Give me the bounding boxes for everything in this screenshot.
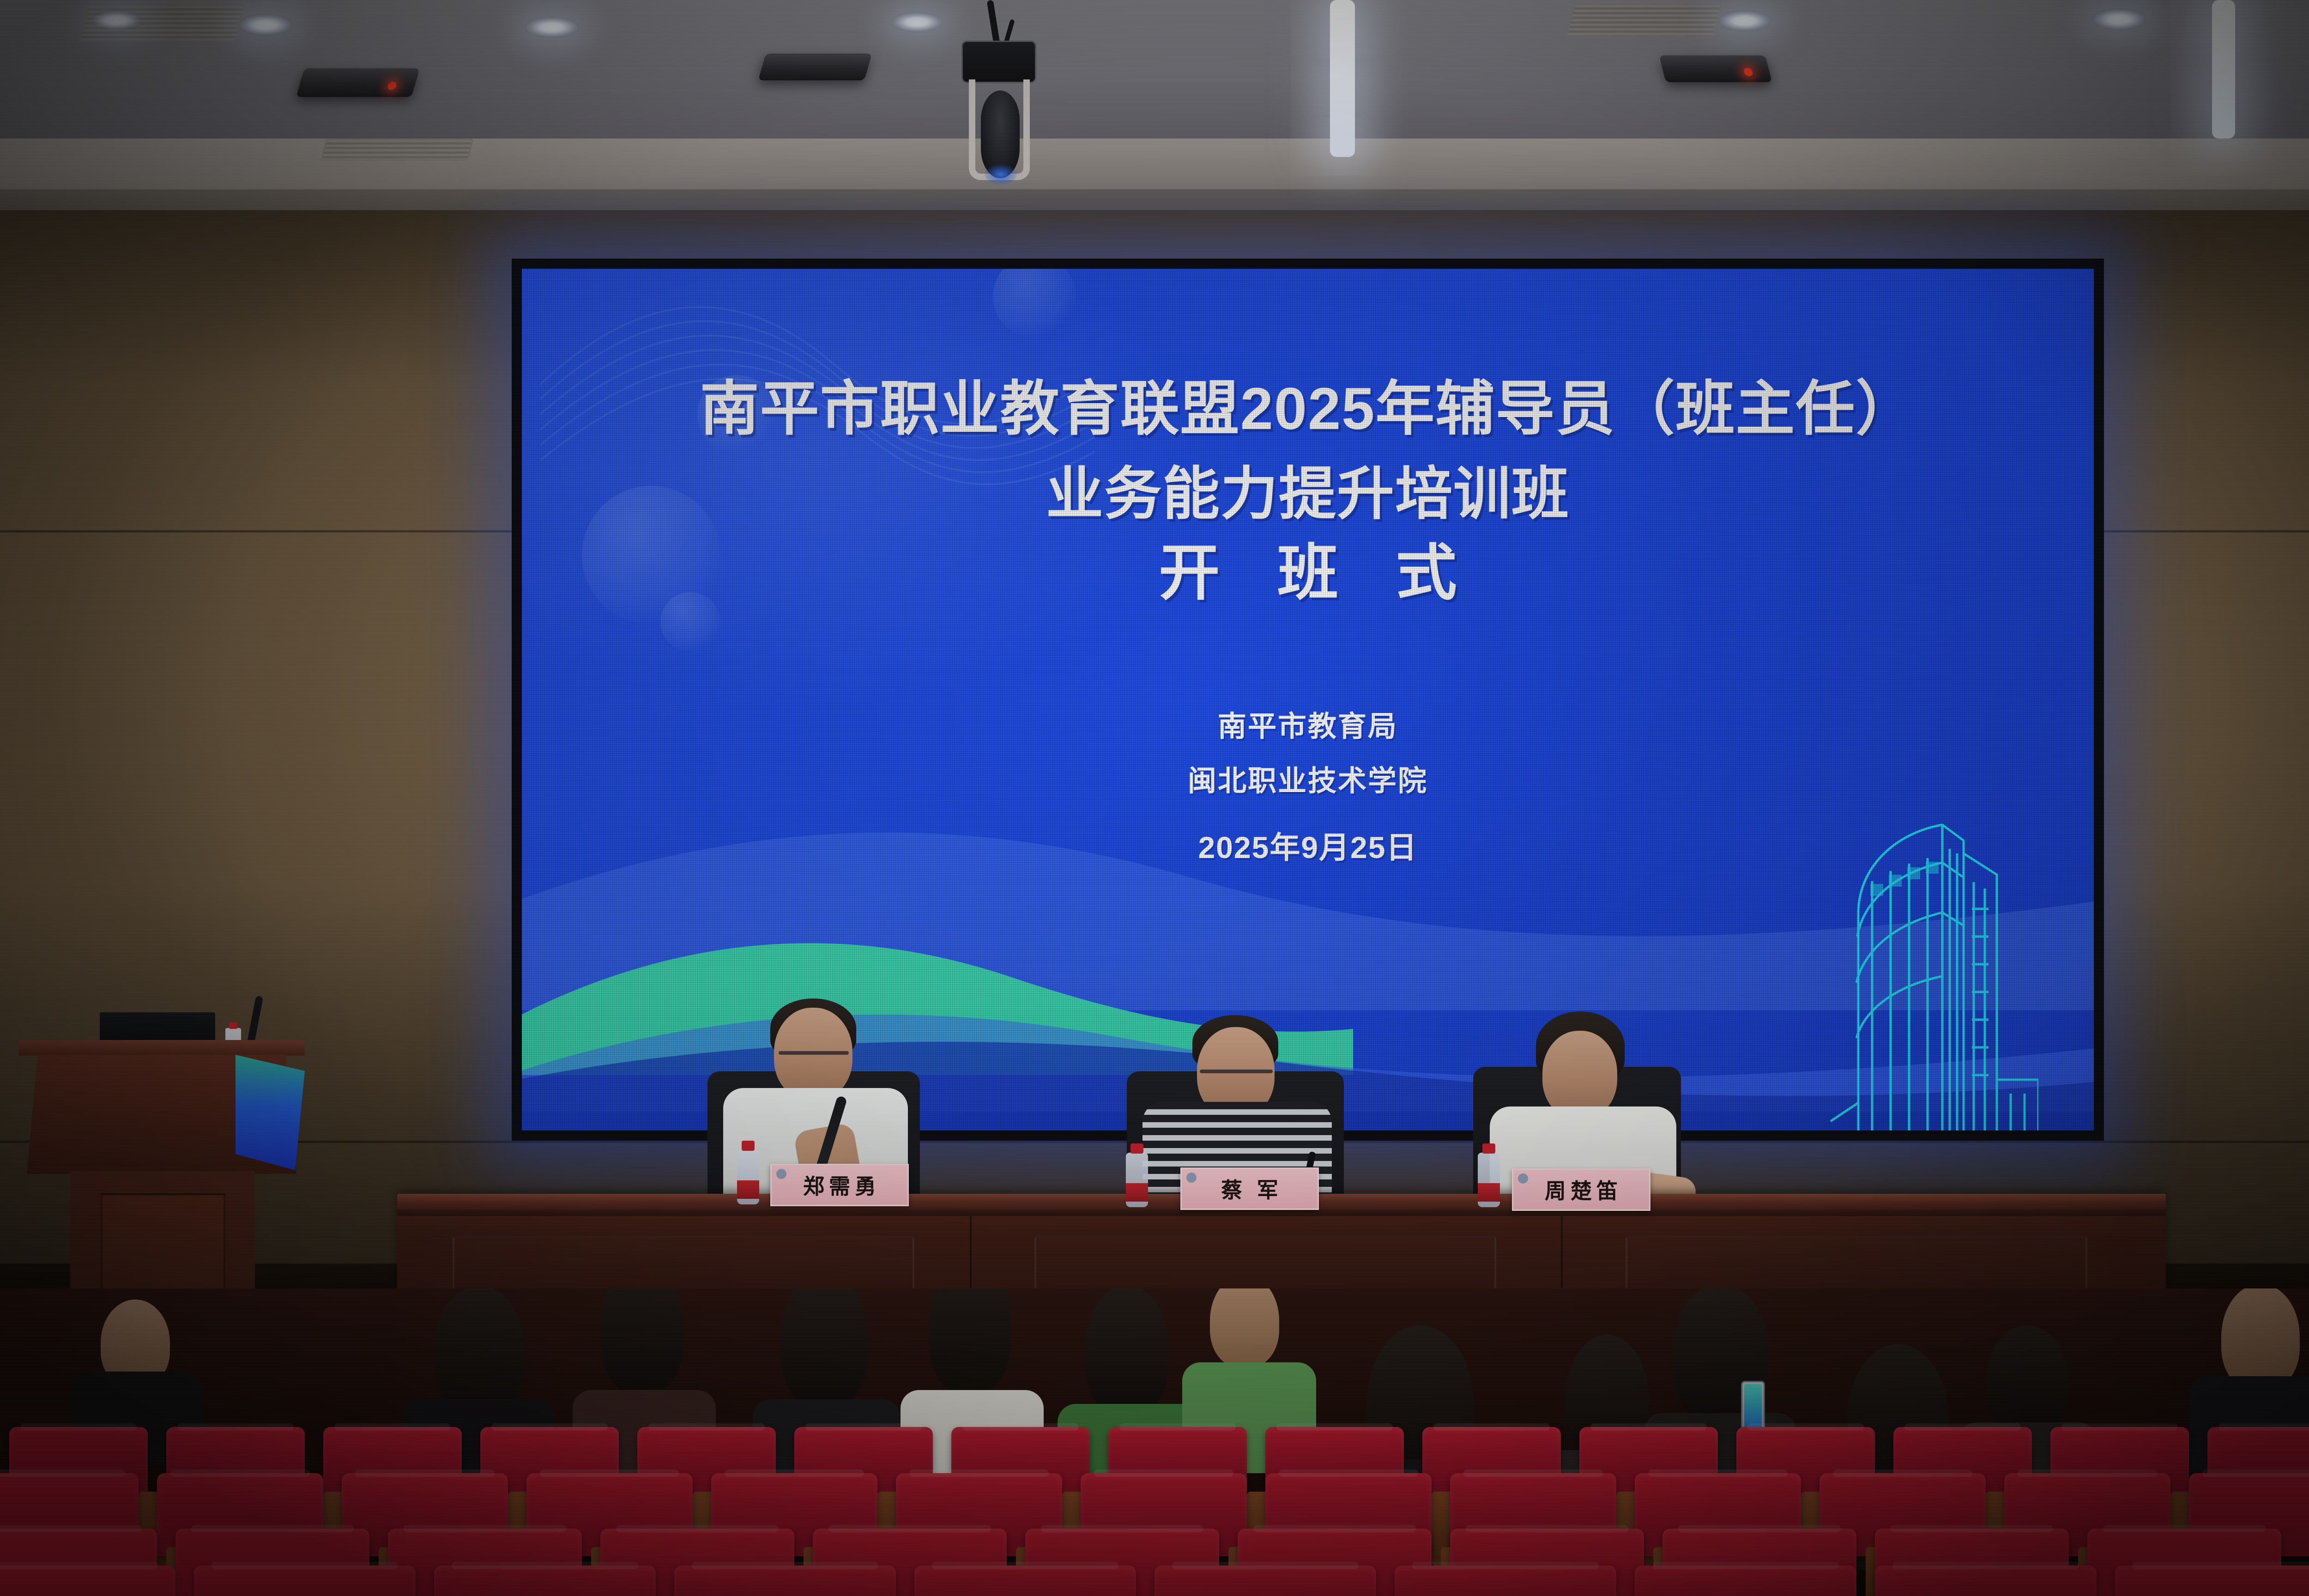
audience-chair[interactable] bbox=[0, 1566, 175, 1596]
audience-head bbox=[1085, 1288, 1168, 1418]
table-top-shadow bbox=[397, 1209, 2166, 1216]
nameplate-3: 周楚笛 bbox=[1512, 1168, 1650, 1211]
spotlight-indicator-led bbox=[387, 82, 398, 90]
nameplate-seal-icon bbox=[1518, 1173, 1528, 1184]
water-bottle bbox=[1478, 1153, 1500, 1207]
head bbox=[1542, 1031, 1617, 1118]
ceiling-spotlight bbox=[758, 54, 872, 80]
ceiling-air-vent bbox=[320, 139, 474, 161]
bottle-label bbox=[1478, 1183, 1500, 1202]
screen-date: 2025年9月25日 bbox=[522, 823, 2094, 867]
ceiling-air-vent bbox=[1566, 4, 1722, 37]
screen-organizer-line2: 闽北职业技术学院 bbox=[522, 757, 2094, 799]
ceiling-downlight bbox=[2092, 8, 2146, 30]
nameplate-seal-icon bbox=[776, 1169, 786, 1179]
screen-organizer-line1: 南平市教育局 bbox=[522, 703, 2094, 744]
audience-chair[interactable] bbox=[1395, 1566, 1616, 1596]
bottle-cap bbox=[1482, 1143, 1495, 1154]
audience-chair[interactable] bbox=[1875, 1566, 2097, 1596]
eyeglasses bbox=[779, 1051, 849, 1055]
ceiling-downlight bbox=[238, 14, 293, 36]
decor-circle bbox=[993, 269, 1076, 338]
audience-head bbox=[1210, 1288, 1279, 1367]
ceiling-tube-light bbox=[2212, 0, 2235, 139]
ceiling-downlight bbox=[525, 17, 579, 38]
audience-chair[interactable] bbox=[434, 1566, 656, 1596]
ceiling-downlight bbox=[1718, 10, 1771, 31]
bottle-label bbox=[1126, 1183, 1148, 1202]
audience-seating-area bbox=[0, 1288, 2309, 1596]
nameplate-3-text: 周楚笛 bbox=[1540, 1174, 1622, 1205]
audience-chair[interactable] bbox=[2115, 1566, 2309, 1596]
phone-screen bbox=[1744, 1384, 1762, 1428]
bottle-cap bbox=[1130, 1143, 1143, 1154]
conference-hall-photo: 南平市职业教育联盟2025年辅导员（班主任） 业务能力提升培训班 开 班 式 南… bbox=[0, 0, 2309, 1596]
nameplate-1-text: 郑需勇 bbox=[798, 1170, 881, 1200]
audience-head bbox=[928, 1288, 1011, 1395]
spotlight-indicator-led bbox=[1743, 68, 1753, 76]
audience-chair[interactable] bbox=[1154, 1566, 1376, 1596]
audience-chair[interactable] bbox=[674, 1566, 896, 1596]
ceiling-downlight bbox=[91, 10, 142, 30]
bottle-label bbox=[737, 1180, 759, 1199]
audience-head bbox=[780, 1288, 868, 1409]
audience-chair[interactable] bbox=[914, 1566, 1136, 1596]
screen-title-line2: 业务能力提升培训班 bbox=[522, 447, 2094, 530]
ceiling-spotlight bbox=[296, 68, 420, 97]
bottle-cap bbox=[742, 1141, 755, 1151]
audience-head bbox=[1986, 1325, 2069, 1436]
projector-glow bbox=[985, 164, 1017, 185]
nameplate-2-text: 蔡 军 bbox=[1216, 1173, 1283, 1204]
audience-head bbox=[600, 1288, 683, 1395]
eyeglasses bbox=[1200, 1070, 1273, 1073]
podium-laptop bbox=[100, 1012, 215, 1041]
ceiling-spotlight bbox=[1659, 55, 1772, 82]
nameplate-2: 蔡 军 bbox=[1180, 1167, 1319, 1210]
audience-head bbox=[434, 1288, 525, 1415]
podium-top-surface bbox=[18, 1040, 305, 1056]
podium-side-screen-reflection bbox=[236, 1055, 305, 1170]
nameplate-1: 郑需勇 bbox=[770, 1164, 909, 1206]
water-bottle bbox=[1126, 1153, 1148, 1207]
water-bottle bbox=[737, 1150, 759, 1204]
nameplate-seal-icon bbox=[1186, 1173, 1197, 1183]
audience-head bbox=[2221, 1288, 2300, 1390]
audience-chair[interactable] bbox=[1635, 1566, 1856, 1596]
audience-chair[interactable] bbox=[194, 1566, 416, 1596]
ceiling-projector-unit bbox=[933, 0, 1090, 212]
screen-title-line3: 开 班 式 bbox=[522, 524, 2094, 612]
ceiling-tube-light bbox=[1330, 0, 1355, 157]
projector-body bbox=[961, 41, 1036, 83]
screen-title-line1: 南平市职业教育联盟2025年辅导员（班主任） bbox=[522, 374, 2094, 444]
